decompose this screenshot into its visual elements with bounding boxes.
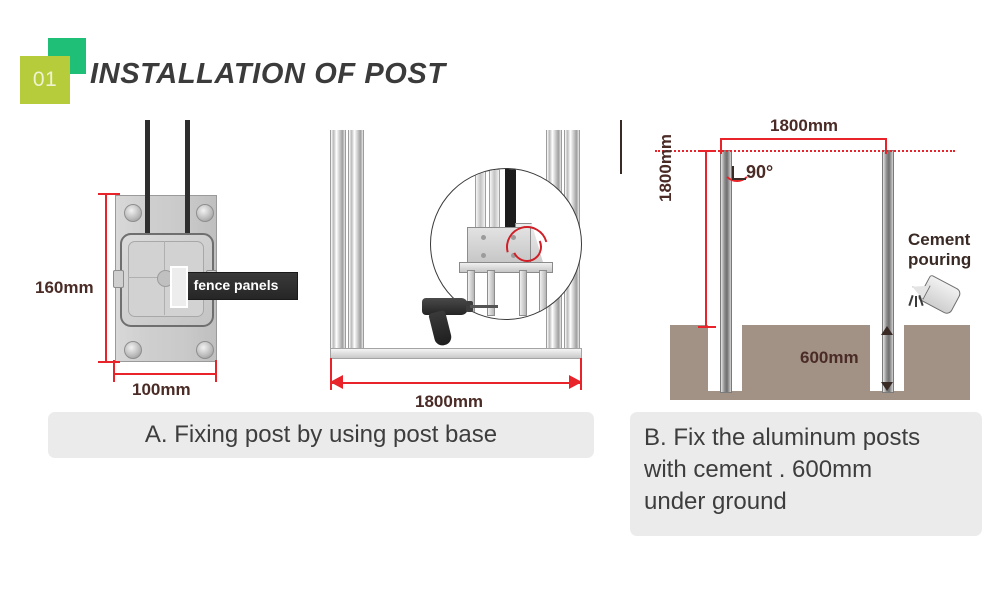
dim-tick-width-right bbox=[215, 360, 217, 382]
dim-tick-top-left bbox=[720, 138, 722, 154]
base-screw-1 bbox=[481, 235, 486, 240]
cement-label-line1: Cement bbox=[908, 230, 971, 250]
panel-post-base: fence panels 160mm 100mm bbox=[0, 120, 310, 410]
bottom-rail bbox=[330, 348, 582, 359]
post-left bbox=[330, 130, 346, 355]
dim-line-top-span bbox=[720, 138, 887, 140]
fence-panels-label: fence panels bbox=[176, 272, 296, 298]
dim-arrow-depth-down bbox=[881, 382, 893, 391]
dim-tick-width-left bbox=[113, 360, 115, 382]
page-header: 01 INSTALLATION OF POST bbox=[0, 0, 1000, 120]
step-badge: 01 bbox=[20, 38, 90, 104]
base-screw-2 bbox=[481, 253, 486, 258]
cement-label-line2: pouring bbox=[908, 250, 971, 270]
caption-b-line1: B. Fix the aluminum posts bbox=[644, 422, 968, 454]
caption-b-line2: with cement . 600mm bbox=[644, 454, 968, 486]
dim-arrow-left bbox=[330, 375, 343, 389]
cement-pouring-label: Cement pouring bbox=[908, 230, 971, 269]
bolt-hole-top-left bbox=[124, 204, 142, 222]
bolt-hole-top-right bbox=[196, 204, 214, 222]
dim-line-span bbox=[330, 382, 582, 384]
dim-label-1800mm-height: 1800mm bbox=[656, 134, 676, 202]
post-left-inner bbox=[348, 130, 364, 355]
cement-bucket-icon bbox=[910, 275, 964, 315]
cement-post-right bbox=[882, 150, 894, 393]
dim-label-1800mm-top: 1800mm bbox=[770, 116, 838, 136]
installation-diagram-page: 01 INSTALLATION OF POST fence panels 160… bbox=[0, 0, 1000, 600]
right-angle-corner-icon bbox=[732, 166, 746, 180]
panel-post-drilling: 1800mm bbox=[310, 120, 600, 410]
badge-number: 01 bbox=[20, 56, 70, 104]
bolt-hole-bottom-left bbox=[124, 341, 142, 359]
pour-stream bbox=[910, 295, 924, 309]
dim-label-100mm: 100mm bbox=[132, 380, 191, 400]
dim-line-post-height bbox=[705, 150, 707, 328]
anchor-bolt-4 bbox=[539, 270, 547, 316]
angle-label-90: 90° bbox=[746, 162, 773, 183]
dim-arrow-depth-up bbox=[881, 326, 893, 335]
panel-cement-foundation: 1800mm 1800mm 90° 600mm Cement pouring bbox=[620, 120, 1000, 410]
dim-tick-top-right bbox=[885, 138, 887, 154]
cement-post-left bbox=[720, 150, 732, 393]
dim-tick-height-bottom bbox=[98, 361, 120, 363]
dim-tick-height-top bbox=[98, 193, 120, 195]
dim-line-height bbox=[105, 193, 107, 363]
page-title: INSTALLATION OF POST bbox=[90, 58, 446, 91]
dim-line-depth bbox=[620, 120, 622, 174]
drill-grip bbox=[428, 310, 453, 347]
dim-label-1800mm-span: 1800mm bbox=[415, 392, 483, 412]
drill-bit bbox=[470, 305, 498, 308]
caption-b-line3: under ground bbox=[644, 486, 968, 518]
caption-a: A. Fixing post by using post base bbox=[48, 412, 594, 458]
dim-arrow-right bbox=[569, 375, 582, 389]
bolt-hole-bottom-right bbox=[196, 341, 214, 359]
anchor-bolt-2 bbox=[487, 270, 495, 316]
anchor-bolt-3 bbox=[519, 270, 527, 316]
dim-tick-height-top bbox=[698, 150, 716, 152]
profile-lug-left bbox=[113, 270, 124, 288]
dim-label-160mm: 160mm bbox=[35, 278, 94, 298]
caption-b: B. Fix the aluminum posts with cement . … bbox=[630, 412, 982, 536]
dim-label-600mm: 600mm bbox=[800, 348, 859, 368]
dim-line-width bbox=[113, 373, 217, 375]
dim-tick-height-bottom bbox=[698, 326, 716, 328]
